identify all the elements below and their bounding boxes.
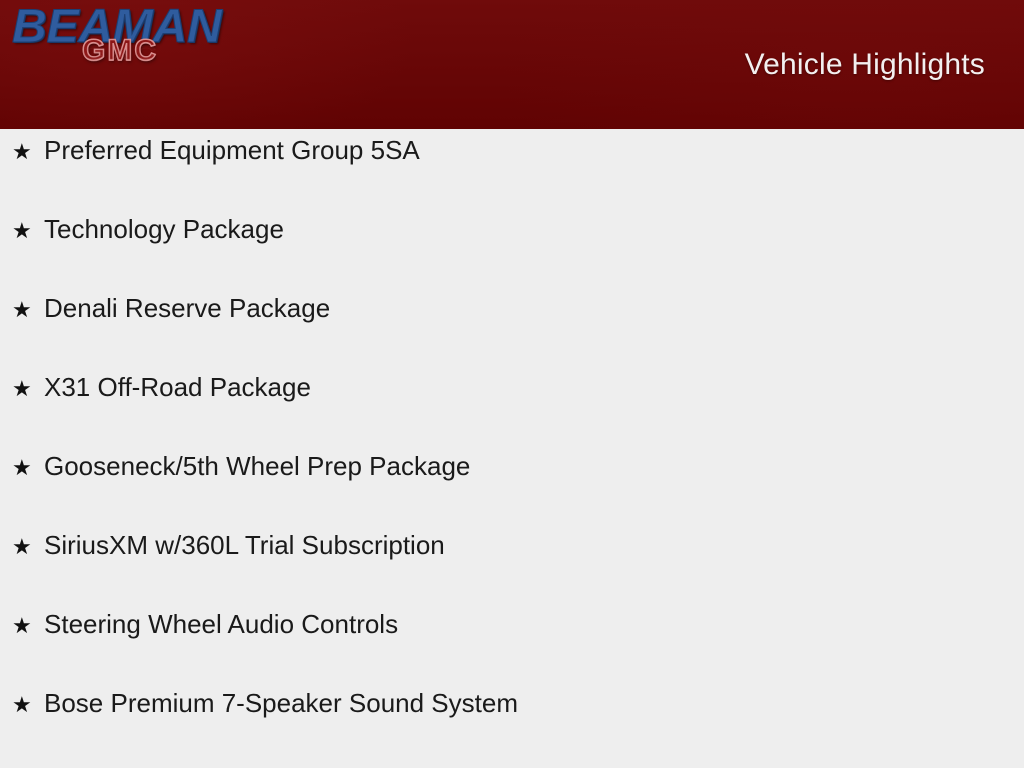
highlight-label: Technology Package	[44, 208, 284, 251]
star-icon: ★	[12, 604, 44, 647]
highlight-label: Denali Reserve Package	[44, 287, 330, 330]
highlight-label: SiriusXM w/360L Trial Subscription	[44, 524, 445, 567]
list-item: ★Technology Package	[0, 208, 1024, 287]
list-item: ★Preferred Equipment Group 5SA	[0, 129, 1024, 208]
list-item: ★X31 Off-Road Package	[0, 366, 1024, 445]
highlight-label: Steering Wheel Audio Controls	[44, 603, 398, 646]
star-icon: ★	[12, 130, 44, 173]
gmc-brand-text: GMC	[82, 34, 158, 68]
list-item: ★Steering Wheel Audio Controls	[0, 603, 1024, 682]
vehicle-highlights-list: ★Preferred Equipment Group 5SA★Technolog…	[0, 129, 1024, 761]
star-icon: ★	[12, 525, 44, 568]
list-item: ★Gooseneck/5th Wheel Prep Package	[0, 445, 1024, 524]
list-item: ★Denali Reserve Package	[0, 287, 1024, 366]
list-item: ★SiriusXM w/360L Trial Subscription	[0, 524, 1024, 603]
star-icon: ★	[12, 446, 44, 489]
page-header: BEAMAN GMC GMC Vehicle Highlights	[0, 0, 1024, 129]
highlight-label: Gooseneck/5th Wheel Prep Package	[44, 445, 470, 488]
dealer-logo[interactable]: BEAMAN GMC GMC	[8, 0, 258, 95]
highlight-label: Bose Premium 7-Speaker Sound System	[44, 682, 518, 725]
star-icon: ★	[12, 367, 44, 410]
star-icon: ★	[12, 288, 44, 331]
highlight-label: Preferred Equipment Group 5SA	[44, 129, 420, 172]
highlight-label: X31 Off-Road Package	[44, 366, 311, 409]
vehicle-highlights-page: BEAMAN GMC GMC Vehicle Highlights ★Prefe…	[0, 0, 1024, 768]
list-item: ★Bose Premium 7-Speaker Sound System	[0, 682, 1024, 761]
star-icon: ★	[12, 683, 44, 726]
page-title: Vehicle Highlights	[745, 48, 985, 82]
star-icon: ★	[12, 209, 44, 252]
